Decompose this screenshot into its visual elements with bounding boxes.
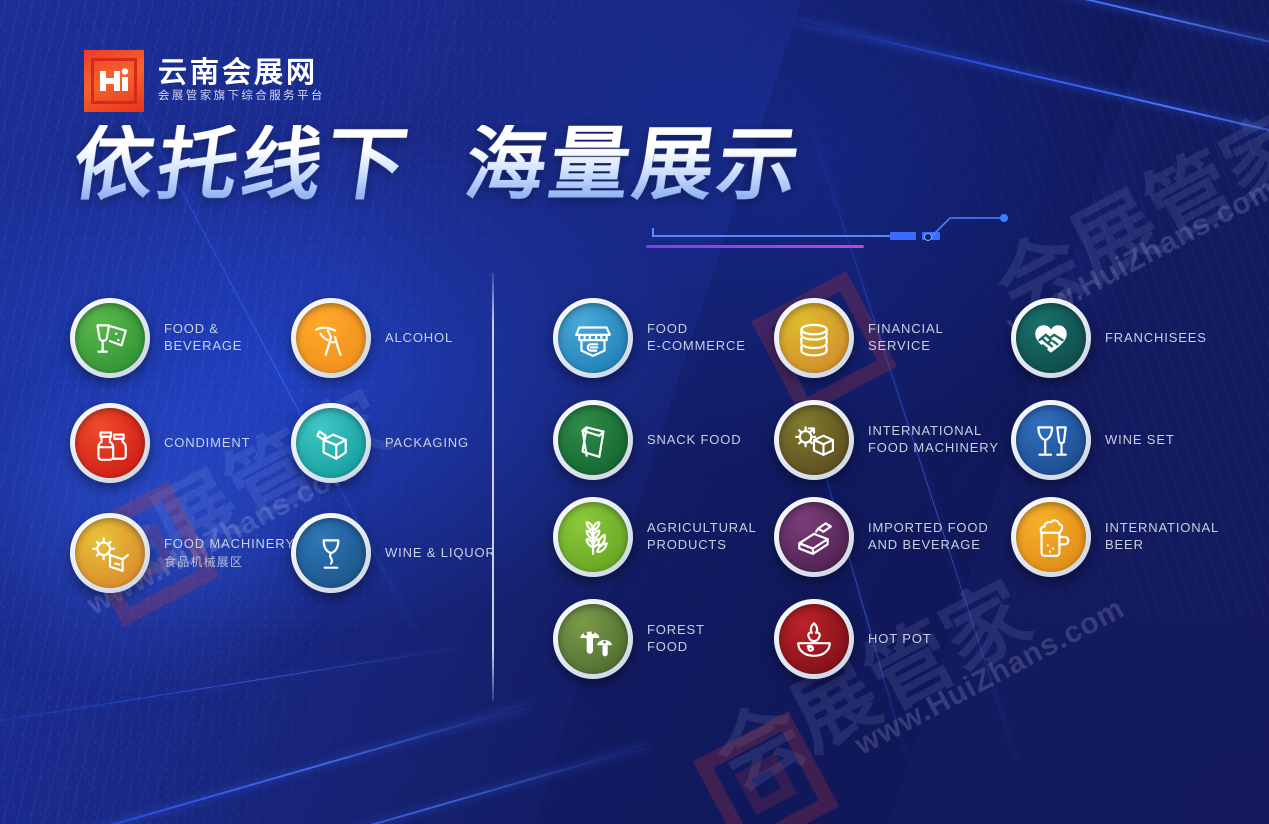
- drink-cup-icon: [89, 317, 131, 359]
- category-badge-forest-food[interactable]: [553, 599, 633, 679]
- category-item-packaging[interactable]: PACKAGING: [291, 403, 469, 483]
- category-label-en: ALCOHOL: [385, 330, 453, 347]
- category-label-en: IMPORTED FOOD AND BEVERAGE: [868, 520, 989, 553]
- category-badge-fill: [296, 303, 366, 373]
- category-label-en: WINE & LIQUOR: [385, 545, 496, 562]
- category-label-group: WINE SET: [1105, 432, 1175, 449]
- snack-bag-icon: [572, 419, 614, 461]
- category-label-group: FOOD MACHINERY食品机械展区: [164, 536, 295, 570]
- logo-title: 云南会展网: [158, 59, 325, 88]
- e-shop-icon: [572, 317, 614, 359]
- category-badge-fill: [1016, 502, 1086, 572]
- category-item-wine-liquor[interactable]: WINE & LIQUOR: [291, 513, 496, 593]
- category-label-group: PACKAGING: [385, 435, 469, 452]
- category-badge-fill: [1016, 405, 1086, 475]
- category-label-group: FINANCIAL SERVICE: [868, 321, 944, 354]
- category-badge-fill: [75, 303, 145, 373]
- category-item-franchisees[interactable]: FRANCHISEES: [1011, 298, 1207, 378]
- category-label-en: SNACK FOOD: [647, 432, 741, 449]
- category-badge-fill: [779, 502, 849, 572]
- category-badge-alcohol[interactable]: [291, 298, 371, 378]
- pouring-bottle-icon: [310, 317, 352, 359]
- hot-pot-icon: [793, 618, 835, 660]
- category-badge-wine-set[interactable]: [1011, 400, 1091, 480]
- category-badge-snack-food[interactable]: [553, 400, 633, 480]
- category-label-group: WINE & LIQUOR: [385, 545, 496, 562]
- beer-mug-icon: [1030, 516, 1072, 558]
- category-badge-food-ecommerce[interactable]: [553, 298, 633, 378]
- wheat-icon: [572, 516, 614, 558]
- category-label-en: FINANCIAL SERVICE: [868, 321, 944, 354]
- mushroom-icon: [572, 618, 614, 660]
- category-badge-imported-food-beverage[interactable]: [774, 497, 854, 577]
- category-label-en: AGRICULTURAL PRODUCTS: [647, 520, 757, 553]
- category-item-condiment[interactable]: CONDIMENT: [70, 403, 250, 483]
- category-badge-franchisees[interactable]: [1011, 298, 1091, 378]
- category-badge-fill: [296, 408, 366, 478]
- headline-word-1: 依托线下: [68, 125, 415, 205]
- category-label-en: FOREST FOOD: [647, 622, 705, 655]
- category-badge-fill: [779, 303, 849, 373]
- category-badge-agricultural-products[interactable]: [553, 497, 633, 577]
- category-label-group: HOT POT: [868, 631, 932, 648]
- coin-stack-icon: [793, 317, 835, 359]
- category-badge-fill: [558, 405, 628, 475]
- category-label-group: IMPORTED FOOD AND BEVERAGE: [868, 520, 989, 553]
- category-badge-fill: [779, 405, 849, 475]
- category-item-international-food-machinery[interactable]: INTERNATIONAL FOOD MACHINERY: [774, 400, 999, 480]
- category-badge-fill: [558, 502, 628, 572]
- category-badge-international-food-machinery[interactable]: [774, 400, 854, 480]
- category-label-group: FRANCHISEES: [1105, 330, 1207, 347]
- category-badge-fill: [558, 303, 628, 373]
- decorative-tech-line: [652, 212, 1004, 250]
- headline: 依托线下 海量展示: [74, 125, 802, 205]
- category-item-wine-set[interactable]: WINE SET: [1011, 400, 1175, 480]
- category-label-en: PACKAGING: [385, 435, 469, 452]
- category-label-en: INTERNATIONAL FOOD MACHINERY: [868, 423, 999, 456]
- category-item-snack-food[interactable]: SNACK FOOD: [553, 400, 741, 480]
- category-badge-fill: [1016, 303, 1086, 373]
- category-item-hot-pot[interactable]: HOT POT: [774, 599, 932, 679]
- open-box-icon: [310, 422, 352, 464]
- category-item-forest-food[interactable]: FOREST FOOD: [553, 599, 705, 679]
- category-badge-food-beverage[interactable]: [70, 298, 150, 378]
- category-label-en: FRANCHISEES: [1105, 330, 1207, 347]
- promo-banner: 会展管家 www.HuiZhans.com 会展管家 www.HuiZhans.…: [0, 0, 1269, 824]
- category-badge-financial-service[interactable]: [774, 298, 854, 378]
- category-item-agricultural-products[interactable]: AGRICULTURAL PRODUCTS: [553, 497, 757, 577]
- gear-box-icon: [793, 419, 835, 461]
- category-badge-fill: [779, 604, 849, 674]
- category-badge-condiment[interactable]: [70, 403, 150, 483]
- logo-subtitle: 会展管家旗下综合服务平台: [158, 91, 325, 103]
- category-item-food-ecommerce[interactable]: FOOD E-COMMERCE: [553, 298, 746, 378]
- hi-logo-icon: [84, 50, 144, 112]
- category-item-international-beer[interactable]: INTERNATIONAL BEER: [1011, 497, 1219, 577]
- column-divider: [492, 273, 494, 701]
- category-item-imported-food-beverage[interactable]: IMPORTED FOOD AND BEVERAGE: [774, 497, 989, 577]
- category-label-group: INTERNATIONAL FOOD MACHINERY: [868, 423, 999, 456]
- category-label-cn: 食品机械展区: [164, 555, 295, 570]
- category-badge-food-machinery[interactable]: [70, 513, 150, 593]
- category-label-group: INTERNATIONAL BEER: [1105, 520, 1219, 553]
- category-badge-fill: [75, 408, 145, 478]
- category-label-group: ALCOHOL: [385, 330, 453, 347]
- category-label-group: SNACK FOOD: [647, 432, 741, 449]
- category-item-financial-service[interactable]: FINANCIAL SERVICE: [774, 298, 944, 378]
- handshake-heart-icon: [1030, 317, 1072, 359]
- condiment-bottles-icon: [89, 422, 131, 464]
- category-label-group: FOOD & BEVERAGE: [164, 321, 242, 354]
- wine-glass-icon: [310, 532, 352, 574]
- wine-set-icon: [1030, 419, 1072, 461]
- category-label-en: FOOD & BEVERAGE: [164, 321, 242, 354]
- category-label-en: HOT POT: [868, 631, 932, 648]
- category-item-food-beverage[interactable]: FOOD & BEVERAGE: [70, 298, 242, 378]
- gear-package-icon: [89, 532, 131, 574]
- category-label-group: FOREST FOOD: [647, 622, 705, 655]
- import-package-icon: [793, 516, 835, 558]
- category-badge-international-beer[interactable]: [1011, 497, 1091, 577]
- category-badge-fill: [296, 518, 366, 588]
- category-badge-hot-pot[interactable]: [774, 599, 854, 679]
- category-badge-packaging[interactable]: [291, 403, 371, 483]
- category-item-alcohol[interactable]: ALCOHOL: [291, 298, 453, 378]
- category-item-food-machinery[interactable]: FOOD MACHINERY食品机械展区: [70, 513, 295, 593]
- category-label-group: AGRICULTURAL PRODUCTS: [647, 520, 757, 553]
- headline-word-2: 海量展示: [460, 125, 807, 205]
- site-logo[interactable]: 云南会展网 会展管家旗下综合服务平台: [84, 50, 325, 112]
- category-badge-fill: [75, 518, 145, 588]
- category-label-group: FOOD E-COMMERCE: [647, 321, 746, 354]
- category-label-en: INTERNATIONAL BEER: [1105, 520, 1219, 553]
- category-badge-wine-liquor[interactable]: [291, 513, 371, 593]
- category-label-en: FOOD MACHINERY: [164, 536, 295, 553]
- category-label-group: CONDIMENT: [164, 435, 250, 452]
- category-label-en: FOOD E-COMMERCE: [647, 321, 746, 354]
- category-label-en: CONDIMENT: [164, 435, 250, 452]
- category-badge-fill: [558, 604, 628, 674]
- category-label-en: WINE SET: [1105, 432, 1175, 449]
